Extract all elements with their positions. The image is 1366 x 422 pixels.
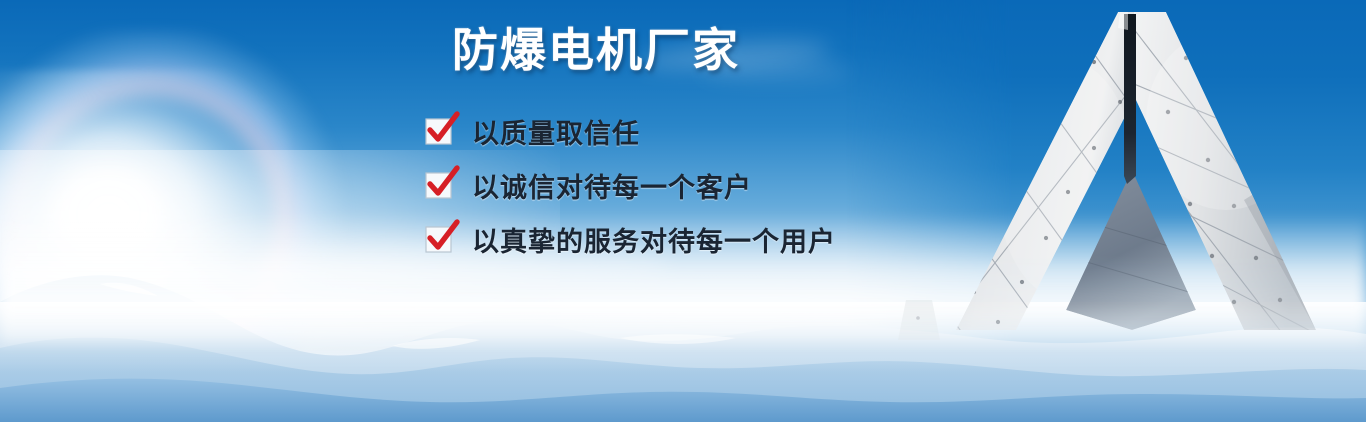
a-frame-monument-image	[896, 0, 1366, 400]
promo-banner: 防爆电机厂家 以质量取信任 以诚信对待每一个客户	[0, 0, 1366, 422]
list-item: 以质量取信任	[424, 104, 836, 158]
red-check-box-icon	[424, 170, 454, 200]
list-item: 以诚信对待每一个客户	[424, 158, 836, 212]
red-check-box-icon	[424, 224, 454, 254]
page-title: 防爆电机厂家	[452, 26, 740, 74]
list-item-label: 以诚信对待每一个客户	[472, 166, 752, 205]
list-item-label: 以真挚的服务对待每一个用户	[472, 220, 836, 259]
list-item: 以真挚的服务对待每一个用户	[424, 212, 836, 266]
list-item-label: 以质量取信任	[472, 112, 640, 151]
feature-list: 以质量取信任 以诚信对待每一个客户 以真挚的服务对待每一个用户	[424, 104, 836, 266]
red-check-box-icon	[424, 116, 454, 146]
